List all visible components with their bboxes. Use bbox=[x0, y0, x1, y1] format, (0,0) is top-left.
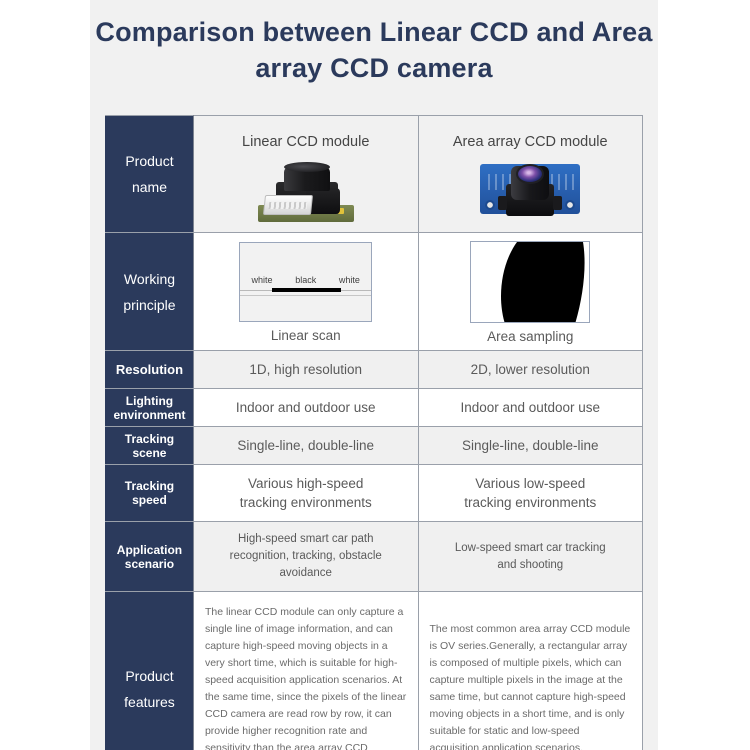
table-row-working-principle: Working principle white black white bbox=[106, 233, 643, 351]
row-label-line2: scene bbox=[108, 446, 191, 460]
cell-area-application: Low-speed smart car tracking and shootin… bbox=[418, 522, 643, 592]
row-label-line2: environment bbox=[108, 408, 191, 422]
cell-linear-tracking-speed: Various high-speed tracking environments bbox=[193, 465, 418, 522]
column-header-linear: Linear CCD module bbox=[198, 122, 414, 152]
row-label-working-principle: Working principle bbox=[106, 233, 194, 351]
table-row-product-features: Product features The linear CCD module c… bbox=[106, 592, 643, 750]
page: Comparison between Linear CCD and Area a… bbox=[0, 0, 750, 750]
row-label-line2: principle bbox=[108, 292, 191, 318]
cell-linear-resolution: 1D, high resolution bbox=[193, 351, 418, 389]
comparison-table: Product name Linear CCD module bbox=[105, 115, 643, 750]
cell-linear-principle: white black white Linear scan bbox=[193, 233, 418, 351]
row-label-tracking-speed: Tracking speed bbox=[106, 465, 194, 522]
row-label-line2: scenario bbox=[108, 557, 191, 571]
row-label-line1: Product bbox=[108, 663, 191, 689]
cell-area-lighting: Indoor and outdoor use bbox=[418, 389, 643, 427]
area-sampling-diagram bbox=[470, 241, 590, 323]
row-label-lighting-environment: Lighting environment bbox=[106, 389, 194, 427]
row-label-line1: Lighting bbox=[108, 394, 191, 408]
table-row-tracking-speed: Tracking speed Various high-speed tracki… bbox=[106, 465, 643, 522]
column-header-area: Area array CCD module bbox=[423, 122, 639, 152]
linear-module-illustration bbox=[254, 158, 358, 224]
row-label-resolution: Resolution bbox=[106, 351, 194, 389]
scan-labels: white black white bbox=[240, 273, 371, 287]
cell-area-tracking-scene: Single-line, double-line bbox=[418, 427, 643, 465]
row-label-line1: Tracking bbox=[108, 479, 191, 493]
linear-scan-diagram: white black white bbox=[239, 242, 372, 322]
cell-linear-tracking-scene: Single-line, double-line bbox=[193, 427, 418, 465]
cell-linear-lighting: Indoor and outdoor use bbox=[193, 389, 418, 427]
table-row-application-scenario: Application scenario High-speed smart ca… bbox=[106, 522, 643, 592]
table-row-resolution: Resolution 1D, high resolution 2D, lower… bbox=[106, 351, 643, 389]
row-label-line2: speed bbox=[108, 493, 191, 507]
scan-line-lower bbox=[240, 295, 371, 296]
white-connector bbox=[263, 195, 313, 215]
row-label-line1: Product bbox=[108, 148, 191, 174]
cell-linear-application: High-speed smart car path recognition, t… bbox=[193, 522, 418, 592]
cell-area-features: The most common area array CCD module is… bbox=[418, 592, 643, 750]
row-label-product-features: Product features bbox=[106, 592, 194, 750]
area-module-illustration bbox=[478, 158, 582, 224]
table-row-tracking-scene: Tracking scene Single-line, double-line … bbox=[106, 427, 643, 465]
cell-linear-product: Linear CCD module bbox=[193, 116, 418, 233]
linear-scan-caption: Linear scan bbox=[198, 328, 414, 343]
linear-ccd-module-photo bbox=[198, 152, 414, 224]
row-label-application-scenario: Application scenario bbox=[106, 522, 194, 592]
cell-area-resolution: 2D, lower resolution bbox=[418, 351, 643, 389]
page-title: Comparison between Linear CCD and Area a… bbox=[90, 14, 658, 86]
cell-area-product: Area array CCD module bbox=[418, 116, 643, 233]
table-row-lighting-environment: Lighting environment Indoor and outdoor … bbox=[106, 389, 643, 427]
row-label-line1: Application bbox=[108, 543, 191, 557]
label-white-right: white bbox=[339, 275, 360, 285]
row-label-tracking-scene: Tracking scene bbox=[106, 427, 194, 465]
cell-linear-features: The linear CCD module can only capture a… bbox=[193, 592, 418, 750]
row-label-line1: Tracking bbox=[108, 432, 191, 446]
area-array-ccd-module-photo bbox=[423, 152, 639, 224]
row-label-line2: features bbox=[108, 689, 191, 715]
label-black: black bbox=[295, 275, 316, 285]
row-label-line2: name bbox=[108, 174, 191, 200]
lens-barrel bbox=[284, 167, 330, 191]
label-white-left: white bbox=[252, 275, 273, 285]
row-label-product-name: Product name bbox=[106, 116, 194, 233]
area-shape-svg bbox=[471, 242, 590, 323]
area-sampling-caption: Area sampling bbox=[423, 329, 639, 344]
row-label-line1: Working bbox=[108, 266, 191, 292]
cell-area-principle: Area sampling bbox=[418, 233, 643, 351]
table-header-row: Product name Linear CCD module bbox=[106, 116, 643, 233]
black-bar bbox=[272, 288, 341, 292]
cell-area-tracking-speed: Various low-speed tracking environments bbox=[418, 465, 643, 522]
